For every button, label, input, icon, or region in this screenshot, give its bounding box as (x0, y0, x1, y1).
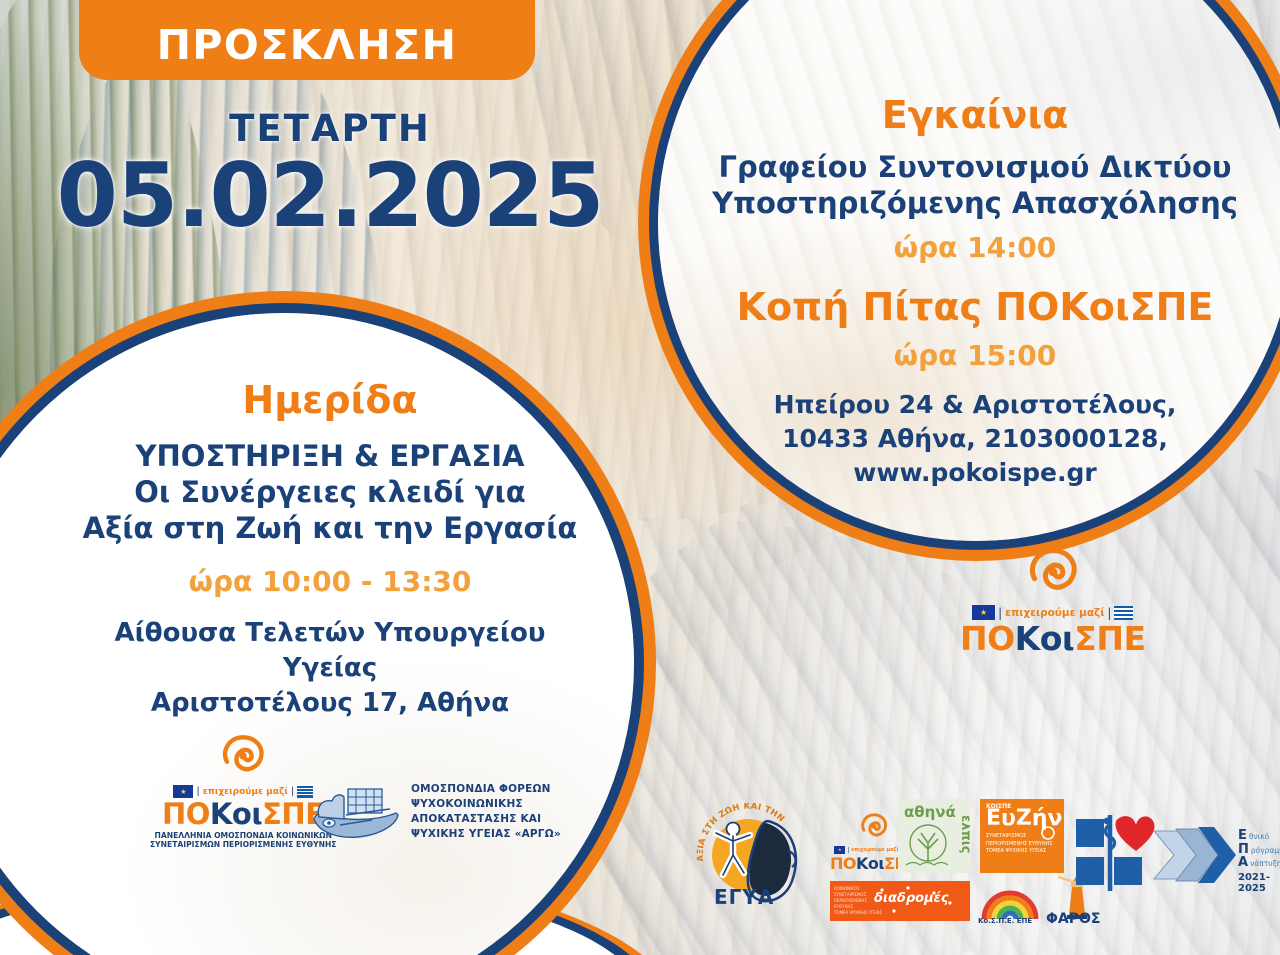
egya-logo: ΑΞΙΑ ΣΤΗ ΖΩΗ ΚΑΙ ΤΗΝ ΕΡΓΑΣΙΑ ΕΓΥΑ (692, 803, 812, 921)
pokoispe-spiral-icon (1022, 540, 1084, 602)
epa-letter-p: Π (1238, 843, 1249, 857)
pokoispe-wordmark: ΠΟΚοιΣΠΕ (162, 800, 325, 829)
epa-word-anaptyxis: νάπτυξης (1250, 860, 1280, 868)
pokoispe-badge-text: επιχειρούμε μαζί (851, 847, 898, 853)
address-line2: 10433 Αθήνα, 2103000128, (690, 422, 1260, 456)
pie-cutting-heading: Κοπή Πίτας ΠΟΚοιΣΠΕ (690, 287, 1260, 329)
euzin-swirl-icon (1038, 825, 1058, 841)
pokoispe-spiral-icon (216, 728, 270, 782)
egya-label: ΕΓΥΑ (714, 885, 774, 909)
kospe-label: Κο.Σ.Π.Ε. ΕΠΕ (978, 917, 1032, 925)
athina-text: αθηνά (904, 803, 956, 821)
pokoispe-logo-left: ★ | επιχειρούμε μαζί | ΠΟΚοιΣΠΕ ΠΑΝΕΛΛΗΝ… (150, 728, 337, 849)
address-line1: Ηπείρου 24 & Αριστοτέλους, (690, 388, 1260, 422)
pokoispe-badge-text: επιχειρούμε μαζί (1005, 607, 1104, 619)
pokoispe-word-po: ΠΟ (830, 854, 856, 873)
argo-line1: ΟΜΟΣΠΟΝΔΙΑ ΦΟΡΕΩΝ (411, 782, 561, 797)
epa-chevrons-icon (1150, 809, 1242, 901)
banner-label: ΠΡΟΣΚΛΗΣΗ (157, 25, 458, 66)
pokoispe-word-po: ΠΟ (960, 619, 1015, 658)
argo-text-block: ΟΜΟΣΠΟΝΔΙΑ ΦΟΡΕΩΝ ΨΥΧΟΚΟΙΝΩΝΙΚΗΣ ΑΠΟΚΑΤΑ… (411, 782, 561, 843)
argo-line3: ΑΠΟΚΑΤΑΣΤΑΣΗΣ ΚΑΙ (411, 812, 561, 827)
pokoispe-spiral-icon (857, 809, 891, 843)
conference-time: ώρα 10:00 - 13:30 (70, 565, 590, 599)
opening-heading: Εγκαίνια (690, 95, 1260, 137)
pie-cutting-time: ώρα 15:00 (690, 339, 1260, 373)
epa-years: 2021-2025 (1238, 872, 1280, 894)
website-link[interactable]: www.pokoispe.gr (690, 456, 1260, 490)
epa-letter-e: Ε (1238, 829, 1247, 843)
argo-logo: ΟΜΟΣΠΟΝΔΙΑ ΦΟΡΕΩΝ ΨΥΧΟΚΟΙΝΩΝΙΚΗΣ ΑΠΟΚΑΤΑ… (310, 775, 561, 849)
opening-time: ώρα 14:00 (690, 231, 1260, 265)
invitation-poster: ΠΡΟΣΚΛΗΣΗ ΤΕΤΑΡΤΗ 05.02.2025 Εγκαίνια Γρ… (0, 0, 1280, 955)
epa-text-block: Εθνικό Πρόγραμμα Ανάπτυξης 2021-2025 (1238, 829, 1280, 894)
euzin-logo: ΚΟΙΣΠΕ ΕυΖήν ΣΥΝΕΤΑΙΡΙΣΜΟΣ ΠΕΡΙΟΡΙΣΜΕΝΗΣ… (980, 799, 1064, 873)
pokoispe-subtitle-line2: ΣΥΝΕΤΑΙΡΙΣΜΩΝ ΠΕΡΙΟΡΙΣΜΕΝΗΣ ΕΥΘΥΝΗΣ (150, 841, 337, 850)
epa-word-programma: ρόγραμμα (1251, 847, 1280, 855)
opening-subject-line1: Γραφείου Συντονισμού Δικτύου (690, 149, 1260, 185)
sponsor-logo-strip: ΑΞΙΑ ΣΤΗ ΖΩΗ ΚΑΙ ΤΗΝ ΕΡΓΑΣΙΑ ΕΓΥΑ ★ | επ… (690, 795, 1280, 925)
pokoispe-word-koi: Κοι (856, 854, 884, 873)
athina-tree-icon: αθηνά ελπίς (898, 799, 970, 873)
argo-line2: ΨΥΧΟΚΟΙΝΩΝΙΚΗΣ (411, 797, 561, 812)
pokoispe-wordmark: ΠΟΚοιΣΠΕ (960, 622, 1145, 655)
date-block: ΤΕΤΑΡΤΗ 05.02.2025 (30, 110, 630, 241)
diadromes-logo: ΚΟΙΝΩΝΙΚΟΣΣΥΝΕΤΑΙΡΙΣΜΟΣΠΕΡΙΟΡΙΣΜΕΝΗΣΕΥΘΥ… (830, 881, 970, 921)
athina-elpis-logo: αθηνά ελπίς (898, 799, 970, 873)
epa-logo: Εθνικό Πρόγραμμα Ανάπτυξης 2021-2025 (1150, 809, 1280, 909)
elpis-text: ελπίς (958, 815, 970, 854)
pokoispe-word-koi: Κοι (1015, 619, 1075, 658)
argo-ship-icon (310, 775, 402, 849)
invitation-banner: ΠΡΟΣΚΛΗΣΗ (79, 0, 535, 80)
pokoispe-eu-badge: ★ | επιχειρούμε μαζί | (972, 605, 1133, 620)
date-weekday: ΤΕΤΑΡΤΗ (30, 110, 630, 147)
conference-title-line2: Οι Συνέργειες κλειδί για (70, 474, 590, 510)
opening-subject-line2: Υποστηριζόμενης Απασχόλησης (690, 185, 1260, 221)
right-circle-content: Εγκαίνια Γραφείου Συντονισμού Δικτύου Υπ… (690, 95, 1260, 490)
pokoispe-word-koi: Κοι (210, 797, 262, 831)
pokoispe-logo-right: ★ | επιχειρούμε μαζί | ΠΟΚοιΣΠΕ (960, 540, 1145, 655)
pokoispe-word-spe: ΣΠΕ (1074, 619, 1145, 658)
greek-flag-icon (1114, 606, 1133, 620)
kospe-rainbow-logo (980, 879, 1040, 921)
pokoispe-badge-text: επιχειρούμε μαζί (203, 787, 288, 797)
date-value: 05.02.2025 (30, 151, 630, 241)
left-circle-content: Ημερίδα ΥΠΟΣΤΗΡΙΞΗ & ΕΡΓΑΣΙΑ Οι Συνέργει… (70, 380, 590, 721)
conference-title-line3: Αξία στη Ζωή και την Εργασία (70, 510, 590, 546)
venue-line1: Αίθουσα Τελετών Υπουργείου Υγείας (70, 616, 590, 686)
epa-letter-a: Α (1238, 856, 1248, 870)
pokoispe-word-po: ΠΟ (162, 797, 210, 831)
conference-title-line1: ΥΠΟΣΤΗΡΙΞΗ & ΕΡΓΑΣΙΑ (70, 438, 590, 474)
conference-heading: Ημερίδα (70, 380, 590, 422)
eu-flag-icon: ★ (834, 846, 845, 854)
eu-flag-icon: ★ (972, 605, 995, 620)
diadromes-dots (830, 881, 970, 921)
venue-line2: Αριστοτέλους 17, Αθήνα (70, 686, 590, 721)
argo-line4: ΨΥΧΙΚΗΣ ΥΓΕΙΑΣ «ΑΡΓΩ» (411, 827, 561, 842)
epa-word-ethniko: θνικό (1249, 833, 1269, 841)
rainbow-icon (980, 879, 1040, 921)
